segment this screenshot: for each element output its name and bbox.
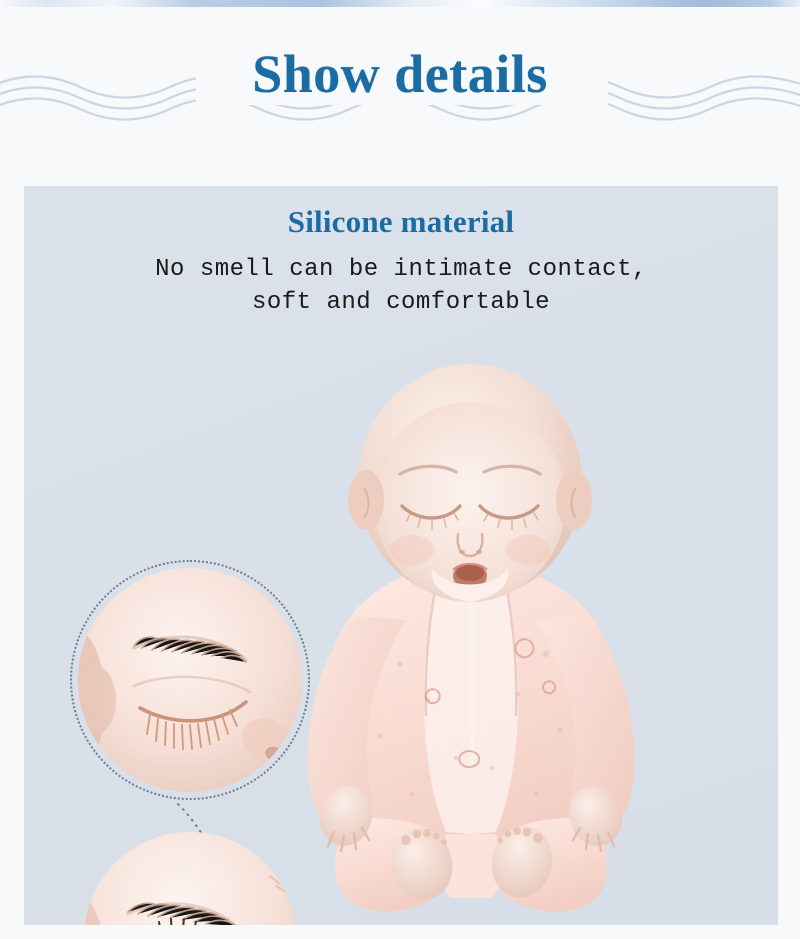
top-accent-strip: [0, 0, 800, 7]
bottom-margin: [0, 925, 800, 939]
dotted-connector: [174, 802, 214, 836]
details-panel: Silicone material No smell can be intima…: [24, 186, 778, 925]
section-heading: Silicone material: [24, 203, 778, 241]
photo-stage: [24, 336, 778, 925]
section-description: No smell can be intimate contact, soft a…: [24, 253, 778, 319]
closeup-closed-eye-ring: [70, 560, 310, 800]
page-title: Show details: [0, 43, 800, 105]
page-header: Show details: [0, 7, 800, 186]
reborn-baby-doll-photo: [260, 364, 680, 919]
